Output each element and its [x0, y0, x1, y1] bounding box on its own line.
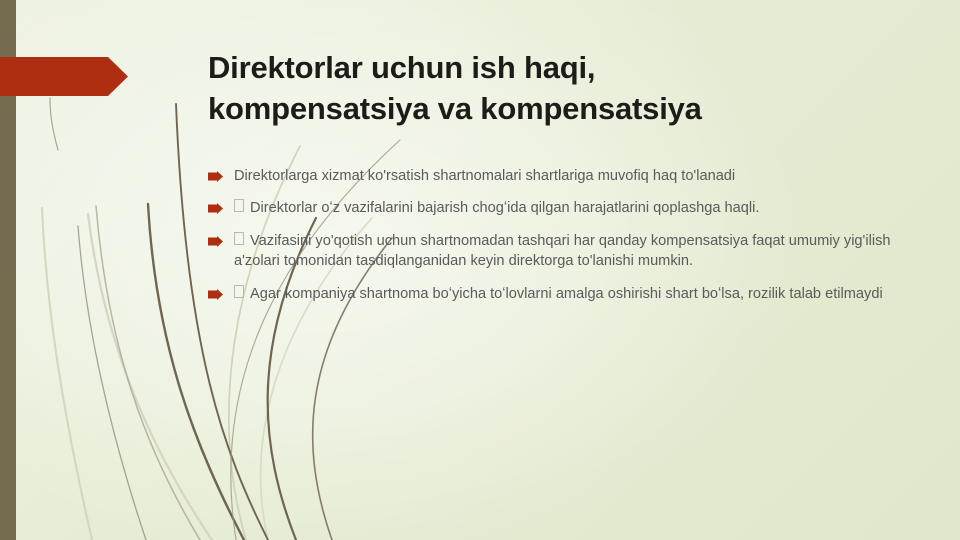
bullet-text-wrapper: Direktorlar oʻz vazifalarini bajarish ch… — [234, 198, 908, 218]
missing-glyph-box-icon — [234, 232, 244, 245]
bullet-list-item: Direktorlar oʻz vazifalarini bajarish ch… — [208, 198, 908, 218]
red-arrow-banner — [0, 57, 128, 96]
presentation-slide: Direktorlar uchun ish haqi, kompensatsiy… — [0, 0, 960, 540]
arrow-bullet-icon — [208, 198, 234, 214]
arrow-bullet-icon — [208, 284, 234, 300]
arrow-bullet-icon — [208, 166, 234, 182]
bullet-text: Vazifasini yo'qotish uchun shartnomadan … — [234, 233, 890, 269]
missing-glyph-box-icon — [234, 199, 244, 212]
missing-glyph-box-icon — [234, 285, 244, 298]
slide-title-line-2: kompensatsiya va kompensatsiya — [208, 91, 702, 126]
bullet-list: Direktorlarga xizmat ko'rsatish shartnom… — [208, 166, 908, 316]
bullet-list-item: Vazifasini yo'qotish uchun shartnomadan … — [208, 231, 908, 272]
bullet-text-wrapper: Vazifasini yo'qotish uchun shartnomadan … — [234, 231, 908, 272]
bullet-text: Direktorlarga xizmat ko'rsatish shartnom… — [234, 166, 908, 186]
bullet-list-item: Agar kompaniya shartnoma boʻyicha toʻlov… — [208, 284, 908, 304]
bullet-text-wrapper: Agar kompaniya shartnoma boʻyicha toʻlov… — [234, 284, 908, 304]
slide-title: Direktorlar uchun ish haqi, kompensatsiy… — [208, 48, 908, 130]
arrow-bullet-icon — [208, 231, 234, 247]
bullet-text: Direktorlar oʻz vazifalarini bajarish ch… — [250, 200, 759, 216]
slide-title-line-1: Direktorlar uchun ish haqi, — [208, 50, 595, 85]
bullet-text: Agar kompaniya shartnoma boʻyicha toʻlov… — [250, 286, 883, 302]
bullet-list-item: Direktorlarga xizmat ko'rsatish shartnom… — [208, 166, 908, 186]
